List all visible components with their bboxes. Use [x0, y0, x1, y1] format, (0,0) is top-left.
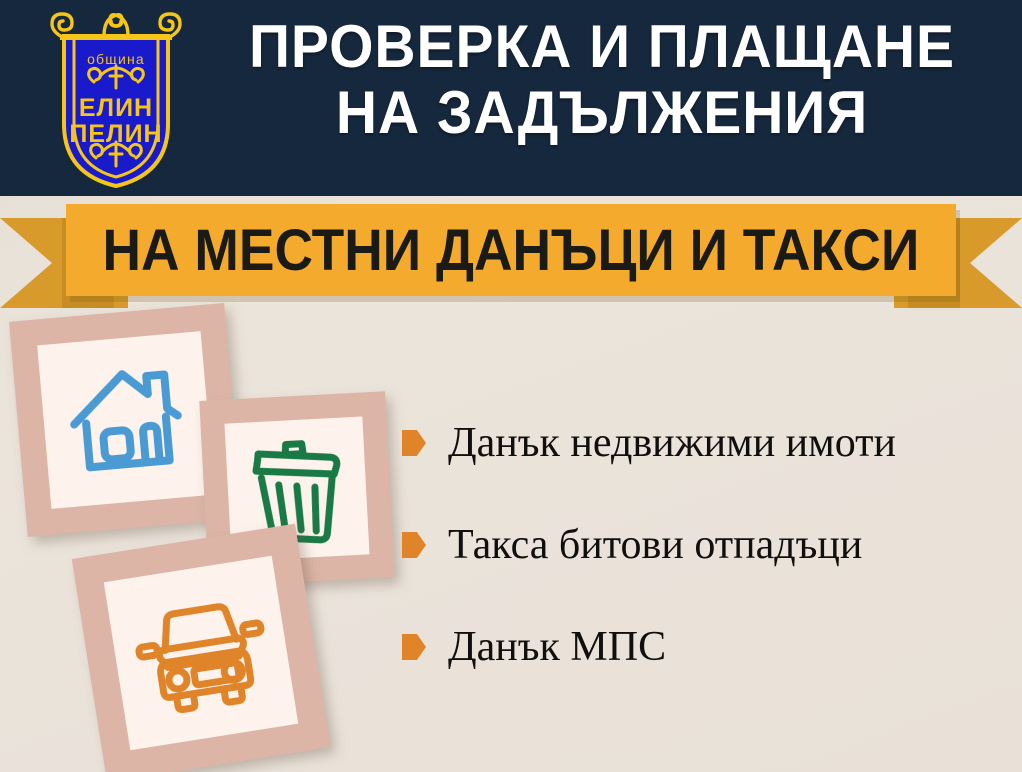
- arrow-bullet-icon: [402, 430, 426, 456]
- header-title-block: ПРОВЕРКА И ПЛАЩАНЕ НА ЗАДЪЛЖЕНИЯ: [196, 14, 1008, 146]
- obligation-types-list: Данък недвижими имоти Такса битови отпад…: [402, 420, 1002, 726]
- crest-line1-label: ЕЛИН: [79, 94, 153, 122]
- list-item: Данък МПС: [402, 624, 1002, 670]
- ribbon-face: НА МЕСТНИ ДАНЪЦИ И ТАКСИ: [66, 204, 956, 296]
- page-title-line-2: НА ЗАДЪЛЖЕНИЯ: [216, 80, 987, 146]
- vehicle-stamp: [72, 524, 331, 772]
- header-banner: община ЕЛИН ПЕЛИН: [0, 0, 1022, 196]
- page-title-line-1: ПРОВЕРКА И ПЛАЩАНЕ: [216, 14, 987, 80]
- list-item-label: Данък недвижими имоти: [448, 420, 896, 466]
- list-item-label: Данък МПС: [448, 624, 666, 670]
- ribbon-subtitle: НА МЕСТНИ ДАНЪЦИ И ТАКСИ: [103, 217, 920, 284]
- poster-canvas: община ЕЛИН ПЕЛИН: [0, 0, 1022, 772]
- municipal-coat-of-arms-shield-icon: община ЕЛИН ПЕЛИН: [42, 6, 190, 190]
- arrow-bullet-icon: [402, 634, 426, 660]
- subtitle-ribbon: НА МЕСТНИ ДАНЪЦИ И ТАКСИ: [0, 196, 1022, 314]
- list-item: Такса битови отпадъци: [402, 522, 1002, 568]
- arrow-bullet-icon: [402, 532, 426, 558]
- list-item: Данък недвижими имоти: [402, 420, 1002, 466]
- list-item-label: Такса битови отпадъци: [448, 522, 862, 568]
